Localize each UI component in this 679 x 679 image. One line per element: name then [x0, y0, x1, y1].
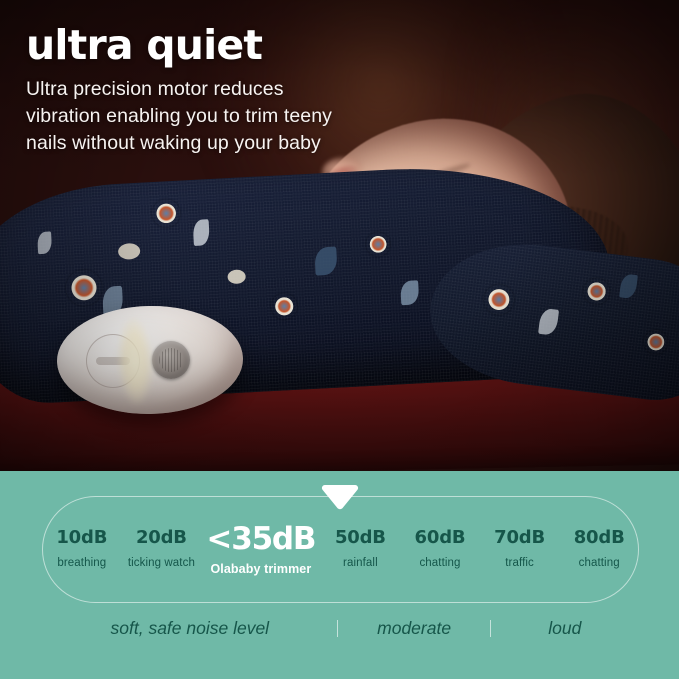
scale-tick-20db: 20dB ticking watch	[122, 529, 202, 570]
tick-db-value: 20dB	[122, 529, 202, 547]
product-infographic: ultra quiet Ultra precision motor reduce…	[0, 0, 679, 679]
tick-db-caption: traffic	[480, 558, 560, 570]
legend-loud: loud	[491, 618, 639, 639]
tick-db-caption: breathing	[42, 558, 122, 570]
hero-description-line-1: Ultra precision motor reduces	[26, 76, 332, 103]
scale-tick-50db: 50dB rainfall	[321, 529, 401, 570]
hero-photo: ultra quiet Ultra precision motor reduce…	[0, 0, 679, 471]
scale-tick-70db: 70dB traffic	[480, 529, 560, 570]
legend-soft-safe: soft, safe noise level	[42, 618, 338, 639]
tick-db-value: 50dB	[321, 529, 401, 547]
hero-copy-block: ultra quiet Ultra precision motor reduce…	[26, 24, 332, 157]
tick-db-value: <35dB	[201, 524, 320, 555]
tick-db-caption: chatting	[400, 558, 480, 570]
hero-description: Ultra precision motor reduces vibration …	[26, 76, 332, 157]
tick-db-caption: rainfall	[321, 558, 401, 570]
scale-tick-row: 10dB breathing 20dB ticking watch <35dB …	[42, 496, 639, 603]
tick-db-value: 10dB	[42, 529, 122, 547]
device-power-button	[152, 341, 190, 379]
tick-db-value: 70dB	[480, 529, 560, 547]
scale-tick-10db: 10dB breathing	[42, 529, 122, 570]
hero-description-line-3: nails without waking up your baby	[26, 130, 332, 157]
scale-tick-60db: 60dB chatting	[400, 529, 480, 570]
tick-db-caption: Olababy trimmer	[201, 563, 320, 576]
page-title: ultra quiet	[26, 24, 332, 67]
tick-db-caption: ticking watch	[122, 558, 202, 570]
scale-tick-80db: 80dB chatting	[559, 529, 639, 570]
tick-db-value: 80dB	[559, 529, 639, 547]
decibel-scale-panel: 10dB breathing 20dB ticking watch <35dB …	[0, 471, 679, 679]
scale-legend-row: soft, safe noise level moderate loud	[42, 605, 639, 651]
tick-db-value: 60dB	[400, 529, 480, 547]
tick-db-caption: chatting	[559, 558, 639, 570]
legend-moderate: moderate	[338, 618, 491, 639]
scale-tick-olababy-trimmer: <35dB Olababy trimmer	[201, 524, 320, 576]
hero-description-line-2: vibration enabling you to trim teeny	[26, 103, 332, 130]
